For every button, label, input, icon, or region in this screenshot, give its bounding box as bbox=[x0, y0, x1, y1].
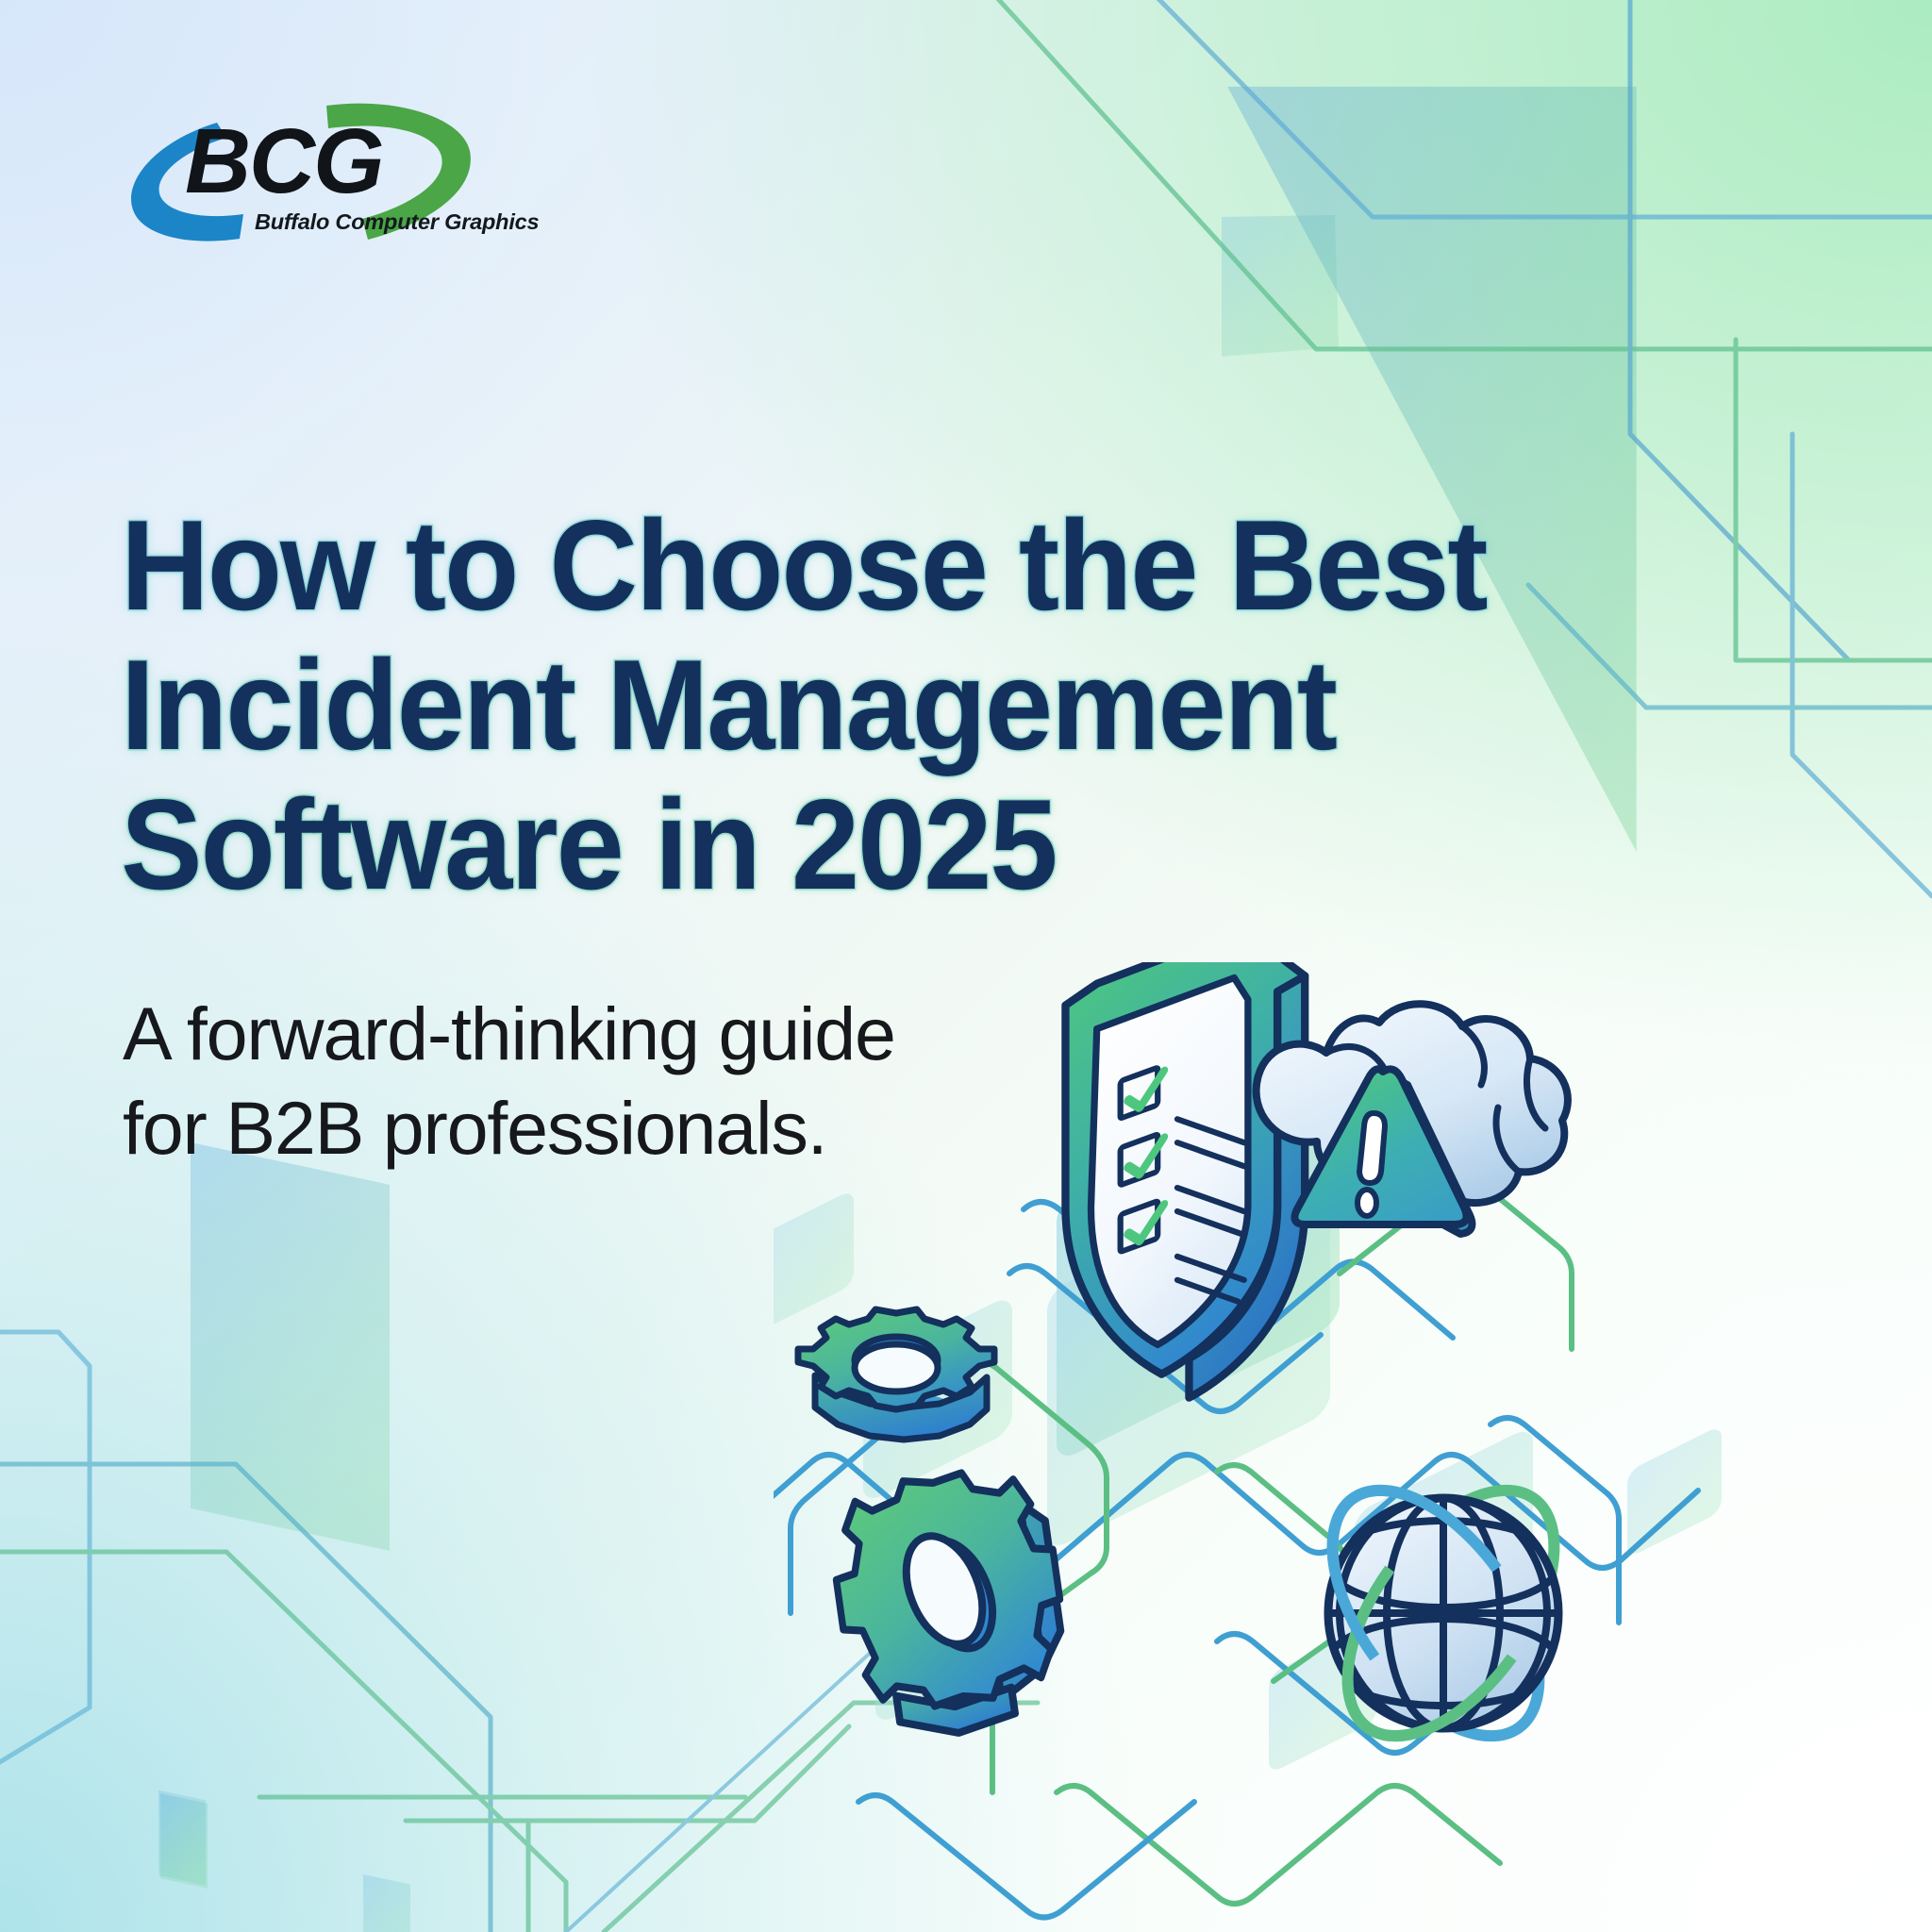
circuit-line-bl-1 bbox=[0, 1332, 90, 1774]
circuit-line-bl-2 bbox=[0, 1464, 491, 1932]
alert-exclamation-dot bbox=[1357, 1190, 1376, 1216]
poster-canvas: BCG Buffalo Computer Graphics How to Cho… bbox=[0, 0, 1932, 1932]
decor-square-top-right bbox=[1222, 215, 1339, 357]
decor-parallelogram-mid bbox=[160, 1793, 208, 1889]
headline-line-3: Software in 2025 bbox=[121, 774, 1760, 914]
path-green-bottom bbox=[1057, 1786, 1500, 1904]
logo-tagline: Buffalo Computer Graphics bbox=[255, 209, 539, 235]
decor-parallelogram-large bbox=[191, 1142, 390, 1551]
circuit-line-bl-3 bbox=[0, 1552, 566, 1932]
alert-exclamation-stem bbox=[1359, 1113, 1385, 1183]
gear-large-icon bbox=[824, 1462, 1075, 1747]
logo-wordmark: BCG bbox=[185, 115, 383, 207]
headline-line-2: Incident Management bbox=[121, 635, 1760, 774]
circuit-line-tr-1 bbox=[1123, 0, 1932, 217]
decor-parallelogram-small-left bbox=[158, 1790, 206, 1886]
gear-small-icon bbox=[798, 1309, 994, 1440]
tile-decor-left bbox=[774, 1189, 854, 1336]
path-blue-bottom bbox=[858, 1795, 1194, 1918]
circuit-line-tr-2 bbox=[991, 0, 1932, 349]
decor-parallelogram-small-right bbox=[363, 1874, 410, 1932]
headline-line-1: How to Choose the Best bbox=[121, 495, 1760, 635]
bcg-logo[interactable]: BCG Buffalo Computer Graphics bbox=[111, 102, 508, 253]
page-title: How to Choose the Best Incident Manageme… bbox=[121, 495, 1838, 915]
hero-illustration bbox=[774, 962, 1932, 1932]
